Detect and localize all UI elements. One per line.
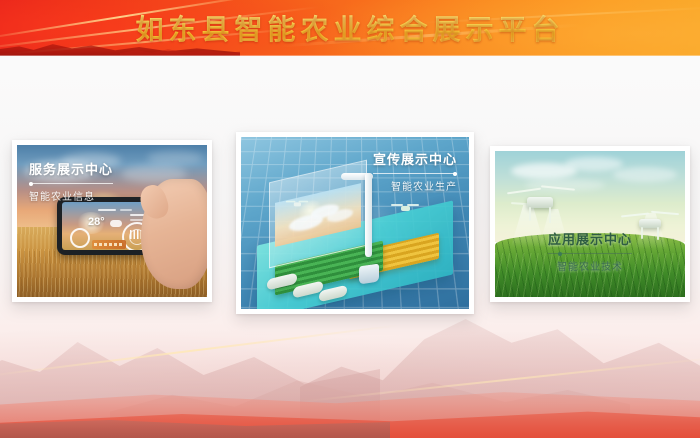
rotor <box>507 188 541 195</box>
card-image-application: 应用展示中心 智能农业技术 <box>495 151 685 297</box>
card-subtitle: 智能农业生产 <box>373 178 457 193</box>
card-title: 应用展示中心 <box>548 229 632 248</box>
drone-leg <box>641 227 643 239</box>
cloud <box>613 167 677 182</box>
rotor <box>651 211 679 215</box>
caption-divider <box>373 173 457 174</box>
page-title: 如东县智能农业综合展示平台 <box>0 0 700 56</box>
drone-icon <box>505 181 579 225</box>
card-image-service: 28° 服务展示中心 智能农业信息 <box>17 145 207 297</box>
hud-bar <box>98 209 116 211</box>
card-promotion-display-center[interactable]: 宣传展示中心 智能农业生产 <box>236 132 474 314</box>
drone-leg <box>549 207 551 223</box>
card-image-promotion: 宣传展示中心 智能农业生产 <box>241 137 469 309</box>
card-subtitle: 智能农业信息 <box>29 188 113 203</box>
card-subtitle: 智能农业技术 <box>548 258 632 273</box>
irrigation-pole <box>365 173 372 257</box>
hud-ring-small <box>70 228 90 248</box>
card-caption-service: 服务展示中心 智能农业信息 <box>29 159 113 203</box>
card-title: 服务展示中心 <box>29 159 113 178</box>
drone-body <box>401 206 410 211</box>
drone-leg <box>529 207 531 221</box>
hud-panel <box>92 240 126 249</box>
hud-bar-chart <box>130 230 141 239</box>
caption-divider <box>29 183 113 184</box>
drone-icon <box>393 203 417 213</box>
rotor <box>541 185 575 191</box>
page-root: 如东县智能农业综合展示平台 28° <box>0 0 700 438</box>
cloud <box>147 151 203 165</box>
card-caption-application: 应用展示中心 智能农业技术 <box>548 229 632 273</box>
card-application-display-center[interactable]: 应用展示中心 智能农业技术 <box>490 146 690 302</box>
drone-body <box>294 202 301 206</box>
rotor <box>621 213 649 218</box>
banner-bottom-edge <box>0 55 700 56</box>
cloud-icon <box>110 220 122 227</box>
cloud <box>565 157 623 171</box>
card-service-display-center[interactable]: 28° 服务展示中心 智能农业信息 <box>12 140 212 302</box>
card-caption-promotion: 宣传展示中心 智能农业生产 <box>373 149 457 193</box>
header-banner: 如东县智能农业综合展示平台 <box>0 0 700 56</box>
drone-leg <box>657 227 659 240</box>
caption-divider <box>548 253 632 254</box>
card-title: 宣传展示中心 <box>373 149 457 168</box>
hud-bar <box>120 209 132 211</box>
temperature-readout: 28° <box>88 216 105 228</box>
drone-icon <box>287 200 306 208</box>
water-tank <box>359 264 379 285</box>
